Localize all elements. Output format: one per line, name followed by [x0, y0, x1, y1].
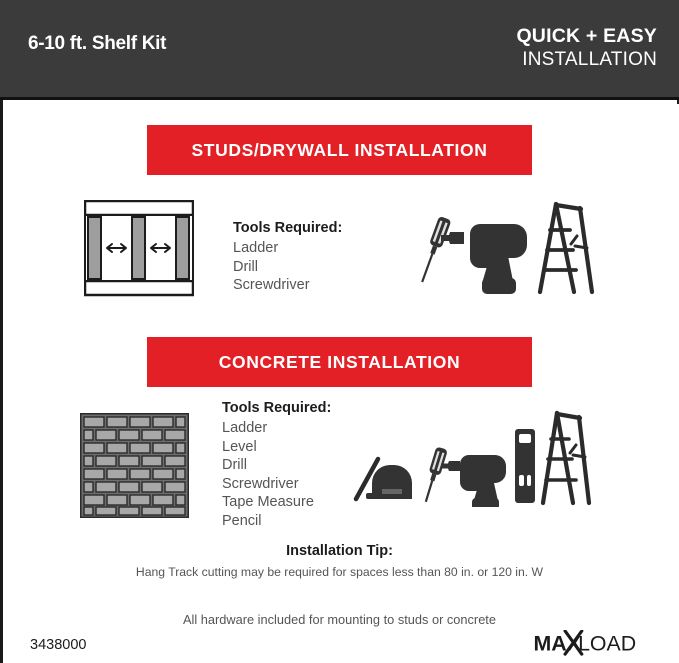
tools-required-concrete-heading: Tools Required: — [222, 399, 331, 418]
page-title: 6-10 ft. Shelf Kit — [28, 33, 166, 55]
wall-studs-diagram — [84, 200, 194, 297]
header-tagline-quick: QUICK + EASY — [516, 24, 657, 48]
screwdriver-icon — [420, 446, 448, 503]
tool-item: Drill — [222, 456, 331, 475]
tool-item: Pencil — [222, 512, 331, 531]
tool-item: Screwdriver — [233, 276, 342, 295]
part-number: 3438000 — [30, 637, 86, 653]
drill-icon — [441, 224, 527, 294]
tools-required-studs-list: Ladder Drill Screwdriver — [233, 239, 342, 295]
hardware-included-note: All hardware included for mounting to st… — [0, 612, 679, 627]
screwdriver-icon — [416, 216, 451, 284]
section-banner-studs-label: STUDS/DRYWALL INSTALLATION — [192, 140, 488, 161]
stepladder-icon — [543, 413, 589, 503]
page-header: 6-10 ft. Shelf Kit QUICK + EASY INSTALLA… — [0, 0, 679, 100]
tool-icons-studs — [404, 198, 604, 298]
brick-wall-diagram — [80, 413, 189, 518]
tool-icons-concrete — [352, 403, 592, 507]
section-banner-studs: STUDS/DRYWALL INSTALLATION — [147, 125, 532, 175]
maxload-logo: MAX LOAD — [529, 630, 655, 656]
header-tagline: QUICK + EASY INSTALLATION — [516, 24, 657, 71]
tools-required-studs-heading: Tools Required: — [233, 219, 342, 238]
installation-tip-body: Hang Track cutting may be required for s… — [0, 565, 679, 579]
drill-icon — [441, 455, 506, 507]
maxload-logo-load: LOAD — [578, 631, 636, 655]
tools-required-concrete: Tools Required: Ladder Level Drill Screw… — [222, 399, 331, 531]
installation-tip-heading: Installation Tip: — [0, 543, 679, 559]
tool-item: Ladder — [233, 239, 342, 258]
section-banner-concrete-label: CONCRETE INSTALLATION — [219, 352, 460, 373]
tool-item: Ladder — [222, 419, 331, 438]
tools-required-concrete-list: Ladder Level Drill Screwdriver Tape Meas… — [222, 419, 331, 531]
tool-item: Level — [222, 438, 331, 457]
instruction-sheet-page: 6-10 ft. Shelf Kit QUICK + EASY INSTALLA… — [0, 0, 679, 663]
header-tagline-installation: INSTALLATION — [516, 48, 657, 71]
tools-required-studs: Tools Required: Ladder Drill Screwdriver — [233, 219, 342, 295]
level-icon — [515, 429, 535, 503]
section-banner-concrete: CONCRETE INSTALLATION — [147, 337, 532, 387]
tool-item: Tape Measure — [222, 493, 331, 512]
stepladder-icon — [540, 204, 592, 292]
tool-item: Screwdriver — [222, 475, 331, 494]
tool-item: Drill — [233, 258, 342, 277]
